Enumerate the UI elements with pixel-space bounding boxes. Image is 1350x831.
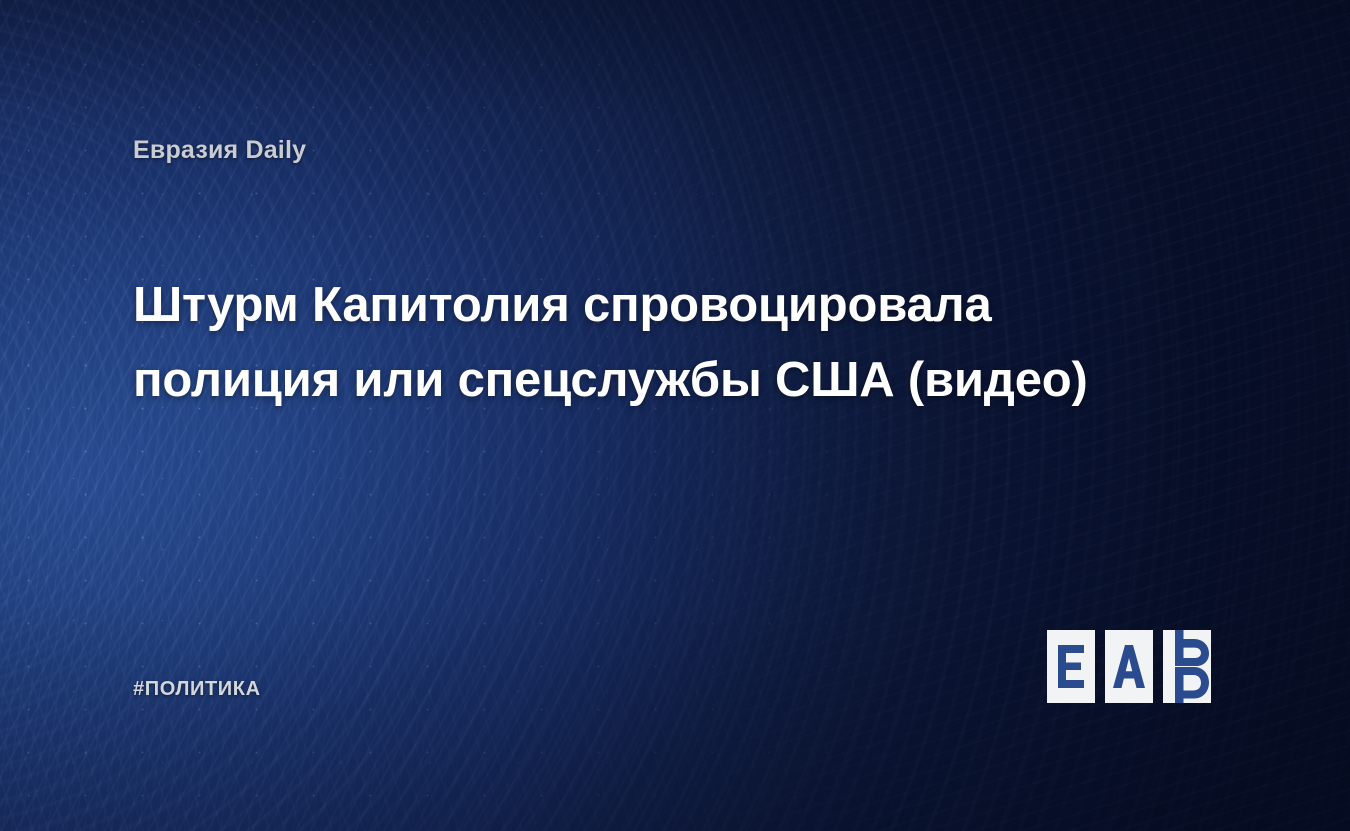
news-card: Евразия Daily Штурм Капитолия спровоциро… [0, 0, 1350, 831]
letter-a-icon [1112, 643, 1146, 690]
letter-d-icon [1169, 630, 1205, 703]
logo-tile-a [1105, 630, 1153, 703]
logo-tile-e [1047, 630, 1095, 703]
logo-tile-d [1163, 630, 1211, 703]
brand-name: Евразия Daily [133, 136, 306, 165]
headline: Штурм Капитолия спровоцировала полиция и… [133, 268, 1223, 418]
ead-logo[interactable] [1047, 630, 1211, 703]
card-content: Евразия Daily Штурм Капитолия спровоциро… [0, 0, 1350, 831]
headline-line-2: полиция или спецслужбы США (видео) [133, 343, 1223, 418]
letter-e-icon [1056, 643, 1086, 690]
category-hashtag: #ПОЛИТИКА [133, 678, 261, 701]
headline-line-1: Штурм Капитолия спровоцировала [133, 268, 1223, 343]
